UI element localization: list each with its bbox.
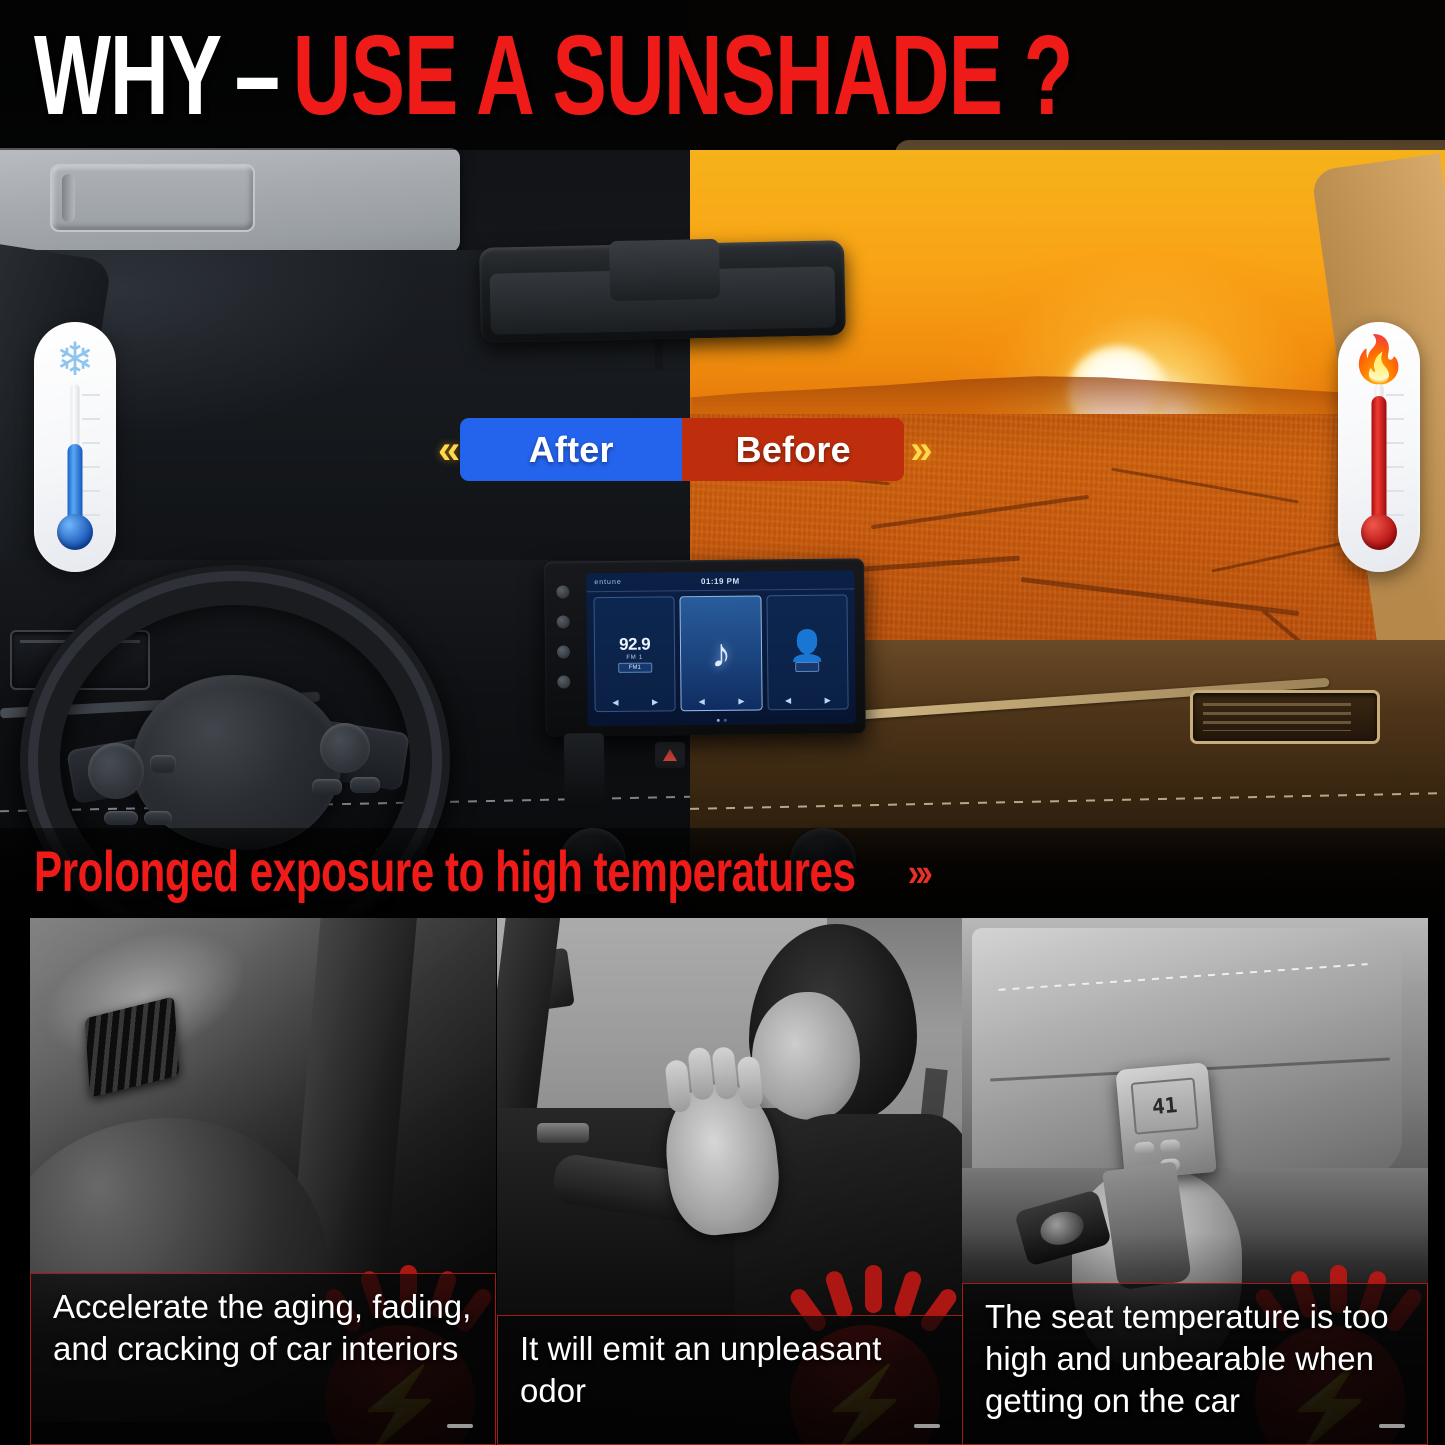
- card-1-caption-text: Accelerate the aging, fading, and cracki…: [53, 1286, 477, 1370]
- sun-visor-cool: [0, 148, 460, 253]
- mirror-mount: [609, 239, 720, 301]
- rearview-mirror: [479, 240, 846, 343]
- before-after-badge-row: « After Before »: [438, 418, 927, 481]
- steering-dpad-right: [320, 723, 370, 773]
- title-highlight: USE A SUNSHADE ?: [293, 12, 1073, 139]
- person-icon: 👤: [788, 633, 826, 660]
- media-track-arrows[interactable]: ◀ ▶: [682, 696, 761, 706]
- profile-arrows[interactable]: ◀ ▶: [768, 696, 847, 706]
- chevron-right-icon: »: [910, 430, 926, 470]
- card-3-caption: The seat temperature is too high and unb…: [962, 1283, 1428, 1445]
- chevron-left-icon: «: [438, 430, 454, 470]
- steering-button-3: [350, 777, 380, 793]
- hazard-light-button[interactable]: [655, 742, 685, 768]
- subheading-bar: Prolonged exposure to high temperatures …: [0, 828, 1445, 918]
- photo-person-face: [752, 992, 860, 1120]
- snowflake-icon: ❄: [56, 336, 95, 382]
- thermometer-bulb-hot: [1361, 514, 1397, 550]
- head-unit-clock: 01:19 PM: [701, 576, 740, 585]
- thermometer-bulb-cold: [57, 514, 93, 550]
- infotainment-head-unit[interactable]: entune 01:19 PM 92.9 FM 1 FM1 ◀ ▶ ♪: [544, 558, 866, 736]
- card-2-caption-text: It will emit an unpleasant odor: [520, 1328, 944, 1412]
- profile-chip[interactable]: [796, 662, 820, 672]
- subheading-chevrons-icon: »›: [908, 851, 928, 896]
- media-prev-icon: ◀: [699, 697, 705, 706]
- before-after-hero: WARNING: [0, 0, 1445, 918]
- radio-tile[interactable]: 92.9 FM 1 FM1 ◀ ▶: [593, 596, 676, 712]
- head-unit-stand: [564, 733, 605, 805]
- card-3-caption-text: The seat temperature is too high and unb…: [985, 1296, 1409, 1423]
- media-tile[interactable]: ♪ ◀ ▶: [680, 595, 763, 711]
- subheading-text: Prolonged exposure to high temperatures: [34, 841, 856, 906]
- volume-knob-icon: [557, 615, 570, 628]
- profile-next-icon: ▶: [825, 696, 831, 705]
- title-word-why: WHY: [34, 12, 221, 139]
- caption-dash-marker: [447, 1424, 473, 1428]
- thermometer-reading: 41: [1151, 1093, 1178, 1119]
- head-unit-side-buttons[interactable]: [556, 585, 577, 705]
- thermometer-mercury-hot: [1372, 396, 1387, 524]
- sunshade-product-poster: WARNING: [0, 0, 1445, 1445]
- radio-seek-arrows[interactable]: ◀ ▶: [596, 697, 675, 707]
- visor-pocket-cool: [50, 164, 255, 232]
- head-unit-tiles: 92.9 FM 1 FM1 ◀ ▶ ♪ ◀ ▶: [593, 595, 848, 713]
- head-unit-status-bar: entune 01:19 PM: [586, 570, 854, 592]
- back-button-icon: [557, 675, 570, 688]
- head-unit-brand: entune: [594, 578, 621, 585]
- card-1-caption: Accelerate the aging, fading, and cracki…: [30, 1273, 496, 1445]
- steering-dpad-left: [88, 743, 144, 799]
- thermometer-display: 41: [1131, 1077, 1199, 1134]
- visor-slot-cool: [62, 174, 75, 222]
- air-vent-hot: [1190, 690, 1380, 744]
- music-note-icon: ♪: [711, 636, 731, 670]
- radio-preset-chip[interactable]: FM1: [618, 663, 652, 673]
- caption-dash-marker: [1379, 1424, 1405, 1428]
- poster-title-bar: WHY–USE A SUNSHADE ?: [0, 0, 1445, 150]
- radio-frequency: 92.9: [619, 636, 650, 653]
- steering-button-5: [144, 811, 172, 825]
- power-knob-icon: [556, 585, 569, 598]
- after-badge: After: [460, 418, 682, 481]
- consequence-cards-row: ⚡ ⚡ ⚡: [0, 918, 1445, 1445]
- title-dash: –: [221, 12, 293, 139]
- caption-dash-marker: [914, 1424, 940, 1428]
- cold-thermometer: ❄: [34, 322, 116, 572]
- consequence-card-2: It will emit an unpleasant odor: [497, 918, 963, 1445]
- card-2-caption: It will emit an unpleasant odor: [497, 1315, 963, 1445]
- mute-button-icon: [557, 645, 570, 658]
- page-title: WHY–USE A SUNSHADE ?: [34, 18, 1072, 131]
- steering-button-2: [312, 779, 342, 795]
- consequence-card-1: Accelerate the aging, fading, and cracki…: [30, 918, 496, 1445]
- profile-prev-icon: ◀: [785, 696, 791, 705]
- photo-door-handle: [537, 1123, 589, 1143]
- flame-icon: 🔥: [1350, 336, 1407, 382]
- before-badge: Before: [682, 418, 904, 481]
- hot-thermometer: 🔥: [1338, 322, 1420, 572]
- hazard-triangle-icon: [663, 749, 677, 761]
- head-unit-screen[interactable]: entune 01:19 PM 92.9 FM 1 FM1 ◀ ▶ ♪: [586, 570, 856, 726]
- thermometer-mercury-cold: [68, 444, 83, 524]
- radio-prev-icon: ◀: [612, 698, 618, 707]
- media-next-icon: ▶: [738, 697, 744, 706]
- consequence-card-3: 41 The seat temperature is too high and …: [962, 918, 1428, 1445]
- steering-button-4: [104, 811, 138, 825]
- steering-button-1: [150, 755, 176, 773]
- page-indicator-dots: [717, 719, 727, 722]
- profile-tile[interactable]: 👤 ◀ ▶: [766, 595, 849, 711]
- radio-next-icon: ▶: [652, 697, 658, 706]
- radio-band: FM 1: [626, 655, 643, 661]
